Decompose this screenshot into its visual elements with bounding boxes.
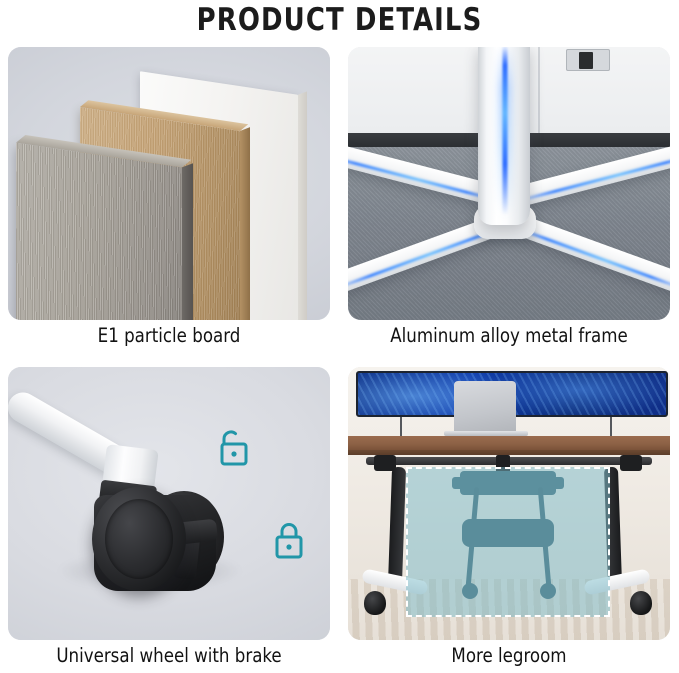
caption-particle-board: E1 particle board xyxy=(16,324,322,347)
detail-card-more-legroom: More legroom xyxy=(348,367,670,673)
detail-card-particle-board: E1 particle board xyxy=(8,47,330,357)
wall-socket xyxy=(566,49,610,71)
column-glow-core xyxy=(503,47,508,215)
desk-top-surface xyxy=(348,436,670,450)
desk-caster-left xyxy=(364,591,386,615)
desk-bracket-right xyxy=(620,455,642,471)
lock-icon xyxy=(272,519,306,561)
board-gray-edge xyxy=(182,163,193,320)
product-details-infographic: PRODUCT DETAILS E1 particle board xyxy=(0,0,679,673)
board-white-edge xyxy=(298,91,307,320)
caption-universal-wheel: Universal wheel with brake xyxy=(16,644,322,667)
unlock-icon xyxy=(215,427,249,469)
panel-background xyxy=(348,47,670,320)
detail-card-metal-frame: Aluminum alloy metal frame xyxy=(348,47,670,357)
legroom-highlight-area xyxy=(406,467,610,617)
universal-wheel-image xyxy=(8,367,330,640)
desk-caster-right xyxy=(630,591,652,615)
page-title: PRODUCT DETAILS xyxy=(24,2,655,38)
board-gray xyxy=(16,143,182,320)
caption-metal-frame: Aluminum alloy metal frame xyxy=(356,324,662,347)
caster-wheel-hub xyxy=(105,499,173,579)
panel-background xyxy=(348,367,670,640)
caption-more-legroom: More legroom xyxy=(356,644,662,667)
detail-card-universal-wheel: Universal wheel with brake xyxy=(8,367,330,673)
more-legroom-image xyxy=(348,367,670,640)
caster-wheel-front xyxy=(92,487,186,591)
metal-frame-image xyxy=(348,47,670,320)
board-oak-edge xyxy=(240,127,250,320)
frame-column xyxy=(478,47,530,225)
laptop-screen xyxy=(454,381,516,433)
particle-board-image xyxy=(8,47,330,320)
board-gray-face xyxy=(16,143,182,320)
